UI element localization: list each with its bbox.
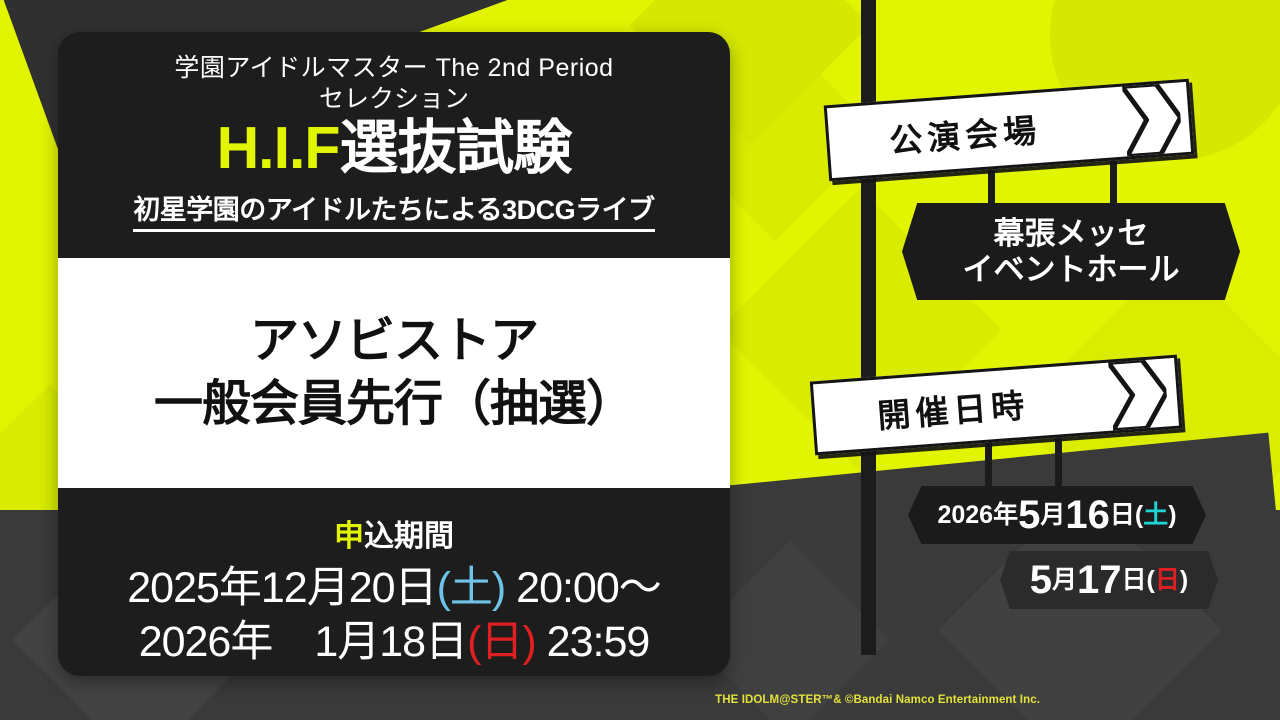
card-header: 学園アイドルマスター The 2nd Period セレクション H.I.F選抜… (58, 32, 730, 232)
ticket-tier-name: 一般会員先行（抽選） (154, 373, 634, 436)
venue-banner-line-1: 幕張メッセ (994, 216, 1149, 252)
schedule-day2-month-unit: 月 (1052, 566, 1077, 595)
schedule-day1-year: 2026年 (937, 501, 1018, 530)
application-end-time: 23:59 (536, 618, 650, 666)
schedule-day1-day: 16 (1065, 492, 1110, 538)
schedule-day1-daymark: 土 (1143, 501, 1168, 530)
venue-banner-line-2: イベントホール (963, 252, 1180, 288)
venue-banner: 幕張メッセ イベントホール (902, 203, 1240, 300)
series-title: 学園アイドルマスター The 2nd Period (76, 52, 712, 84)
copyright-notice: THE IDOLM@STER™& ©Bandai Namco Entertain… (715, 694, 1040, 706)
headline-main: 選抜試験 (339, 115, 571, 181)
schedule-day1-paren-close: ) (1168, 501, 1176, 530)
schedule-day1-day-unit: 日 (1110, 501, 1135, 530)
schedule-sign-label: 開催日時 (876, 379, 1031, 438)
headline-accent: H.I.F (217, 115, 340, 181)
signpost-pole (861, 0, 876, 655)
application-end-daymark: (日) (467, 618, 536, 666)
subline: 初星学園のアイドルたちによる3DCGライブ (133, 188, 654, 232)
schedule-day2-daymark: 日 (1155, 566, 1180, 595)
ticket-type-panel: アソビストア 一般会員先行（抽選） (58, 258, 730, 488)
application-end-row: 2026年 1月18日(日) 23:59 (58, 616, 730, 668)
info-card: 学園アイドルマスター The 2nd Period セレクション H.I.F選抜… (58, 32, 730, 676)
series-subtitle: セレクション (76, 83, 712, 115)
application-start-row: 2025年12月20日(土) 20:00〜 (58, 562, 730, 614)
application-start-daymark: (土) (437, 564, 506, 612)
schedule-day2-day: 17 (1077, 557, 1122, 603)
schedule-banner-day1: 2026年5月16日(土) (908, 486, 1206, 544)
chevron-right-icon (1122, 82, 1183, 156)
venue-sign-label: 公演会場 (888, 104, 1043, 163)
ticket-shop-name: アソビストア (250, 310, 538, 373)
headline: H.I.F選抜試験 (76, 118, 712, 180)
schedule-day1-paren-open: ( (1135, 501, 1143, 530)
application-start-date: 2025年12月20日 (127, 564, 436, 612)
application-period-label: 申込期間 (58, 522, 730, 552)
schedule-day1-month: 5 (1018, 492, 1040, 538)
application-label-rest: 込期間 (364, 520, 454, 553)
application-end-date: 2026年 1月18日 (139, 618, 467, 666)
application-label-accent: 申 (334, 520, 364, 553)
poster-stage: 学園アイドルマスター The 2nd Period セレクション H.I.F選抜… (0, 0, 1280, 720)
chevron-right-icon-2 (1108, 359, 1169, 431)
schedule-day2-month: 5 (1030, 557, 1052, 603)
application-period-block: 申込期間 2025年12月20日(土) 20:00〜 2026年 1月18日(日… (58, 488, 730, 669)
schedule-day2-paren-close: ) (1180, 566, 1188, 595)
schedule-day1-month-unit: 月 (1040, 501, 1065, 530)
schedule-day2-paren-open: ( (1147, 566, 1155, 595)
schedule-banner-day2: 5月17日(日) (1000, 551, 1218, 609)
application-start-time: 20:00〜 (505, 564, 661, 612)
schedule-day2-day-unit: 日 (1122, 566, 1147, 595)
